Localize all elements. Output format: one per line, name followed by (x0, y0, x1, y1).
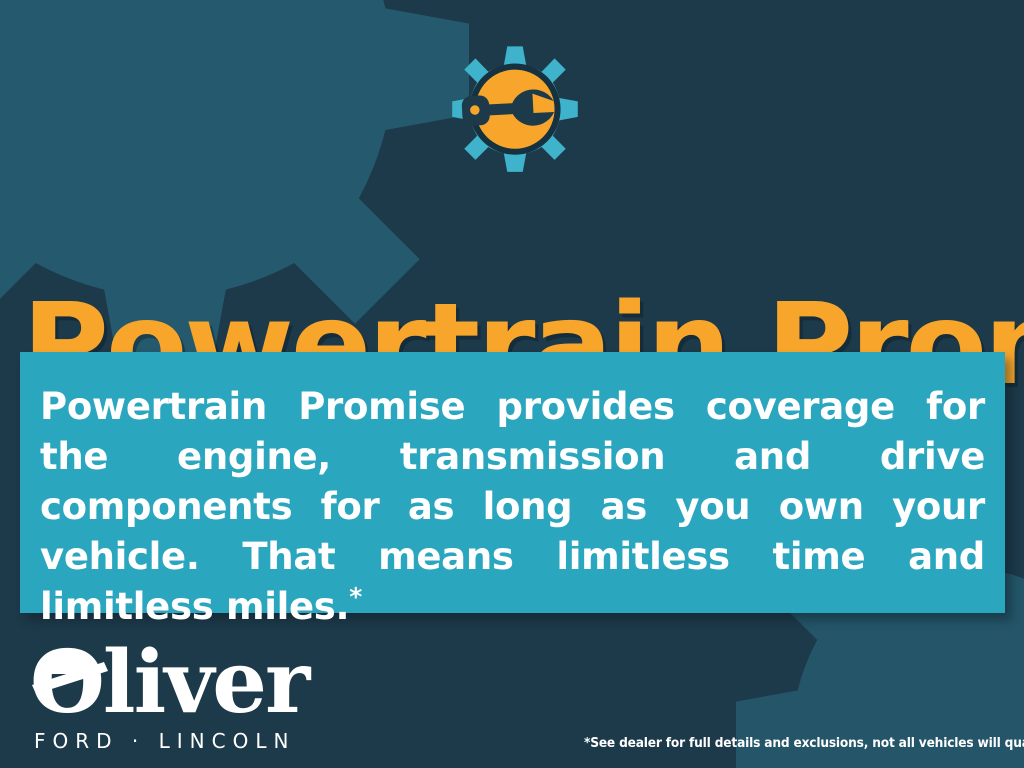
disclaimer-text: *See dealer for full details and exclusi… (584, 736, 979, 752)
powertrain-promise-poster: Powertrain Promise Powertrain Promise pr… (0, 0, 1024, 768)
description-text: Powertrain Promise provides coverage for… (40, 382, 985, 632)
svg-text:FORD · LINCOLN: FORD · LINCOLN (34, 729, 295, 753)
oliver-ford-lincoln-logo: Oliver FORD · LINCOLN (30, 638, 330, 758)
description-panel: Powertrain Promise provides coverage for… (20, 352, 1005, 613)
description-paragraph: Powertrain Promise provides coverage for… (40, 385, 985, 628)
asterisk-marker: * (349, 583, 362, 612)
gear-wrench-icon (429, 24, 601, 196)
